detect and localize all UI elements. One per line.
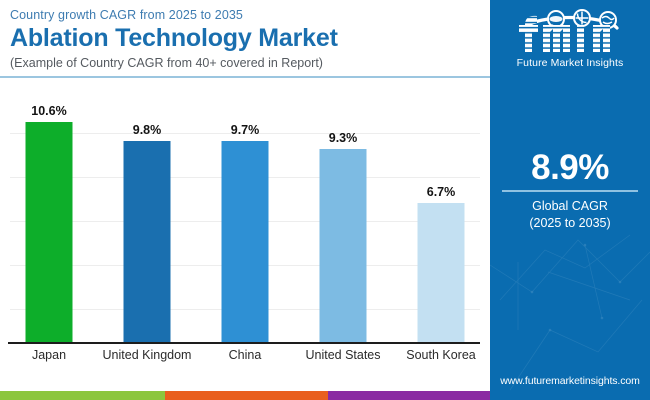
chart-pane: Country growth CAGR from 2025 to 2035 Ab… [0,0,490,400]
bar-slot: 10.6% [0,86,98,343]
bar[interactable] [222,141,269,342]
chart-subtitle: (Example of Country CAGR from 40+ covere… [10,56,323,70]
x-axis-line [8,342,480,344]
footer-strip-segment-orange [165,391,328,400]
bar-slot: 6.7% [392,86,490,343]
bar-value-label: 9.7% [231,123,260,137]
bar-slot: 9.8% [98,86,196,343]
brand-panel: Future Market Insights 8.9% Global CAGR … [490,0,650,400]
bar[interactable] [418,203,465,342]
bar[interactable] [124,141,171,342]
cagr-divider [502,190,638,192]
footer-strip-segment-purple [328,391,490,400]
header-divider [0,76,490,78]
page-title: Ablation Technology Market [10,24,338,53]
cagr-caption-line1: Global CAGR [532,199,608,213]
bar-value-label: 10.6% [31,104,66,118]
bar-value-label: 9.8% [133,123,162,137]
footer-color-strip [0,391,490,400]
global-cagr-value: 8.9% [490,148,650,188]
x-axis-label: China [196,348,294,363]
bar[interactable] [320,149,367,342]
cagr-caption-line2: (2025 to 2035) [529,216,610,230]
plot-area: 10.6%9.8%9.7%9.3%6.7% [0,86,490,344]
footer-strip-segment-green [0,391,165,400]
x-axis-label: Japan [0,348,98,363]
infographic-root: Country growth CAGR from 2025 to 2035 Ab… [0,0,650,400]
chart-eyebrow: Country growth CAGR from 2025 to 2035 [10,8,243,22]
bar[interactable] [26,122,73,342]
x-axis-label: United States [294,348,392,363]
x-axis-label: South Korea [392,348,490,363]
x-axis-labels: JapanUnited KingdomChinaUnited StatesSou… [0,348,490,363]
global-cagr-caption: Global CAGR (2025 to 2035) [490,198,650,232]
bar-value-label: 6.7% [427,185,456,199]
bar-value-label: 9.3% [329,131,358,145]
bar-slot: 9.7% [196,86,294,343]
bar-slot: 9.3% [294,86,392,343]
brand-logo[interactable]: Future Market Insights [490,8,650,69]
fmi-logo-icon [507,8,633,56]
bar-series: 10.6%9.8%9.7%9.3%6.7% [0,86,490,343]
x-axis-label: United Kingdom [98,348,196,363]
website-url[interactable]: www.futuremarketinsights.com [490,375,650,387]
brand-tagline: Future Market Insights [490,57,650,69]
